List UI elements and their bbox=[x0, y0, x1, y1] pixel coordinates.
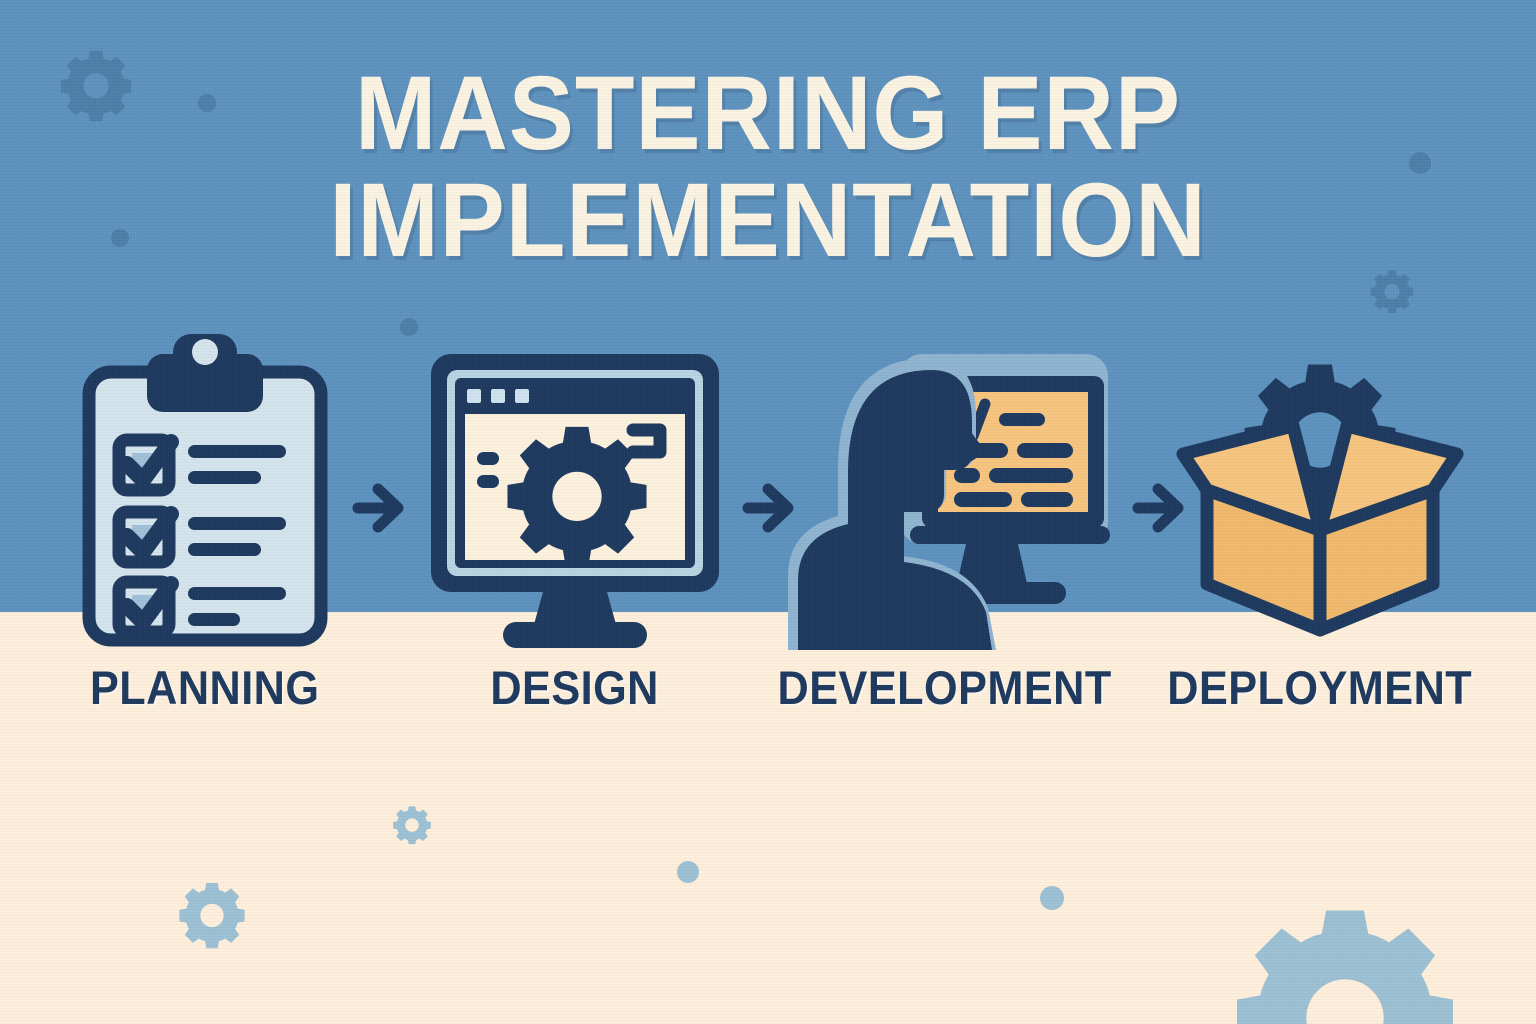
poster-title: MASTERING ERP IMPLEMENTATION bbox=[54, 60, 1482, 274]
gear-top-right-icon bbox=[1371, 270, 1414, 313]
stage-planning-label: PLANNING bbox=[90, 660, 319, 715]
stage-development-icon-box bbox=[780, 330, 1110, 650]
stage-development-label: DEVELOPMENT bbox=[778, 660, 1112, 715]
stage-development[interactable]: DEVELOPMENT bbox=[760, 330, 1130, 750]
gear-bottom-left-icon bbox=[179, 883, 244, 948]
stage-deployment[interactable]: DEPLOYMENT bbox=[1145, 330, 1495, 750]
arrow-right-icon bbox=[352, 475, 408, 541]
stage-deployment-icon-box bbox=[1175, 330, 1465, 650]
title-line-2: IMPLEMENTATION bbox=[54, 167, 1482, 274]
process-flow: PLANNING bbox=[0, 330, 1536, 750]
title-line-1: MASTERING ERP bbox=[355, 55, 1181, 172]
stage-design-icon-box bbox=[425, 330, 725, 650]
dot-5 bbox=[677, 861, 699, 883]
stage-deployment-label: DEPLOYMENT bbox=[1168, 660, 1473, 715]
open-box-gear-icon bbox=[1175, 330, 1465, 650]
stage-planning-icon-box bbox=[75, 330, 335, 650]
stage-design[interactable]: DESIGN bbox=[405, 330, 745, 750]
stage-design-label: DESIGN bbox=[491, 660, 660, 715]
monitor-gear-icon bbox=[425, 340, 725, 650]
poster-canvas: MASTERING ERP IMPLEMENTATION bbox=[0, 0, 1536, 1024]
clipboard-checklist-icon bbox=[75, 330, 335, 650]
developer-at-monitor-icon bbox=[780, 340, 1110, 650]
gear-bottom-small-icon bbox=[393, 806, 431, 844]
gear-bottom-right-large-icon bbox=[1237, 911, 1453, 1024]
stage-planning[interactable]: PLANNING bbox=[40, 330, 370, 750]
dot-6 bbox=[1040, 886, 1064, 910]
